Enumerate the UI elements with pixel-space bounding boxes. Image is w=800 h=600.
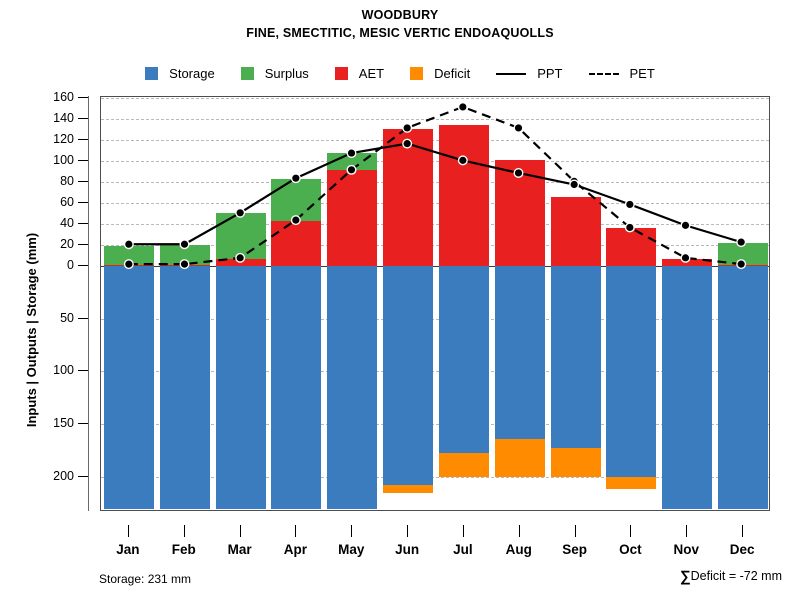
y-axis-tick-label: 50 — [14, 311, 74, 325]
y-axis-tick — [78, 318, 88, 319]
water-balance-chart: WOODBURY FINE, SMECTITIC, MESIC VERTIC E… — [0, 0, 800, 600]
ppt-marker — [181, 241, 188, 248]
y-axis-tick — [78, 202, 88, 203]
ppt-line — [129, 144, 741, 245]
y-axis-tick — [78, 97, 88, 98]
legend-item-ppt: PPT — [496, 66, 562, 81]
legend-label-deficit: Deficit — [434, 66, 470, 81]
legend-item-pet: PET — [589, 66, 655, 81]
x-axis-tick — [295, 525, 296, 537]
x-axis-label-aug: Aug — [506, 542, 532, 557]
x-axis-tick — [519, 525, 520, 537]
x-axis-label-may: May — [338, 542, 364, 557]
pet-marker — [181, 261, 188, 268]
x-axis-label-jan: Jan — [116, 542, 139, 557]
pet-marker — [738, 261, 745, 268]
y-axis-tick-label: 160 — [14, 90, 74, 104]
deficit-note-text: Deficit = -72 mm — [691, 569, 782, 583]
y-axis-tick-label: 80 — [14, 174, 74, 188]
y-axis-tick-label: 200 — [14, 469, 74, 483]
pet-marker — [404, 124, 411, 131]
pet-marker — [348, 166, 355, 173]
line-series — [101, 97, 769, 510]
title-line-1: WOODBURY — [0, 6, 800, 24]
chart-legend: Storage Surplus AET Deficit PPT PET — [0, 66, 800, 81]
pet-marker — [125, 261, 132, 268]
ppt-marker — [571, 181, 578, 188]
ppt-marker — [404, 140, 411, 147]
ppt-marker — [292, 175, 299, 182]
ppt-line-icon — [496, 73, 526, 75]
y-axis-tick — [78, 160, 88, 161]
legend-item-surplus: Surplus — [241, 66, 309, 81]
ppt-marker — [125, 241, 132, 248]
surplus-swatch-icon — [241, 67, 254, 80]
pet-line — [129, 107, 741, 264]
y-axis-tick-label: 140 — [14, 111, 74, 125]
legend-item-aet: AET — [335, 66, 384, 81]
x-axis-tick — [128, 525, 129, 537]
pet-marker — [237, 254, 244, 261]
ppt-marker — [348, 149, 355, 156]
legend-label-storage: Storage — [169, 66, 215, 81]
x-axis-tick — [240, 525, 241, 537]
legend-item-deficit: Deficit — [410, 66, 470, 81]
title-line-2: FINE, SMECTITIC, MESIC VERTIC ENDOAQUOLL… — [0, 24, 800, 42]
y-axis-tick-label: 60 — [14, 195, 74, 209]
x-axis-label-dec: Dec — [730, 542, 755, 557]
ppt-marker — [515, 169, 522, 176]
x-axis-tick — [351, 525, 352, 537]
y-axis-tick — [78, 181, 88, 182]
legend-label-surplus: Surplus — [265, 66, 309, 81]
x-axis-label-feb: Feb — [172, 542, 196, 557]
y-axis-tick — [78, 370, 88, 371]
y-axis-tick-label: 150 — [14, 416, 74, 430]
y-axis-tick-label: 0 — [14, 258, 74, 272]
y-axis-tick — [78, 476, 88, 477]
chart-title: WOODBURY FINE, SMECTITIC, MESIC VERTIC E… — [0, 6, 800, 42]
deficit-note: ∑Deficit = -72 mm — [680, 568, 782, 585]
ppt-marker — [237, 209, 244, 216]
legend-label-pet: PET — [630, 66, 655, 81]
x-axis-tick — [407, 525, 408, 537]
x-axis-label-mar: Mar — [228, 542, 252, 557]
ppt-marker — [682, 222, 689, 229]
pet-line-icon — [589, 73, 619, 75]
x-axis-tick — [463, 525, 464, 537]
legend-item-storage: Storage — [145, 66, 215, 81]
y-axis-tick — [78, 244, 88, 245]
storage-note: Storage: 231 mm — [99, 572, 191, 586]
deficit-swatch-icon — [410, 67, 423, 80]
y-axis-tick-label: 100 — [14, 363, 74, 377]
aet-swatch-icon — [335, 67, 348, 80]
pet-marker — [515, 124, 522, 131]
y-axis-tick-label: 20 — [14, 237, 74, 251]
x-axis-tick — [686, 525, 687, 537]
legend-label-aet: AET — [359, 66, 384, 81]
x-axis-tick — [742, 525, 743, 537]
storage-swatch-icon — [145, 67, 158, 80]
x-axis-label-nov: Nov — [673, 542, 699, 557]
ppt-marker — [459, 157, 466, 164]
x-axis-tick — [184, 525, 185, 537]
pet-marker — [459, 103, 466, 110]
x-axis-tick — [575, 525, 576, 537]
sigma-icon: ∑ — [680, 568, 691, 585]
y-axis-line — [88, 96, 89, 511]
x-axis-tick — [630, 525, 631, 537]
pet-marker — [682, 254, 689, 261]
legend-label-ppt: PPT — [537, 66, 562, 81]
y-axis-tick-label: 40 — [14, 216, 74, 230]
pet-marker — [626, 224, 633, 231]
y-axis-tick — [78, 265, 88, 266]
x-axis-label-oct: Oct — [619, 542, 642, 557]
x-axis-label-jun: Jun — [395, 542, 419, 557]
ppt-marker — [626, 201, 633, 208]
y-axis-tick — [78, 118, 88, 119]
y-axis-tick — [78, 139, 88, 140]
y-axis-title: Inputs | Outputs | Storage (mm) — [24, 180, 39, 480]
ppt-marker — [738, 239, 745, 246]
x-axis: JanFebMarAprMayJunJulAugSepOctNovDec — [100, 511, 770, 571]
y-axis-tick — [78, 423, 88, 424]
pet-marker — [292, 217, 299, 224]
x-axis-label-jul: Jul — [453, 542, 473, 557]
x-axis-label-apr: Apr — [284, 542, 307, 557]
plot-area — [100, 96, 770, 511]
y-axis-tick-label: 100 — [14, 153, 74, 167]
y-axis-tick-label: 120 — [14, 132, 74, 146]
x-axis-label-sep: Sep — [562, 542, 587, 557]
y-axis-tick — [78, 223, 88, 224]
